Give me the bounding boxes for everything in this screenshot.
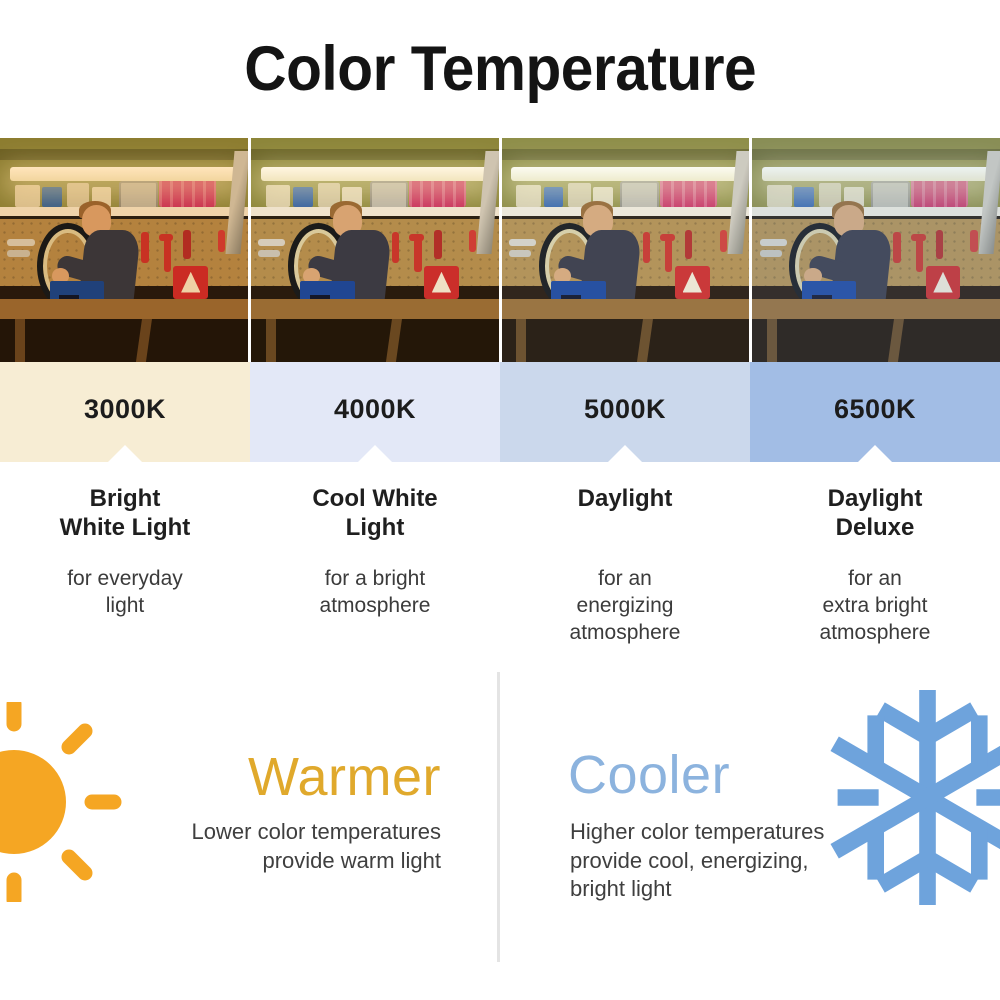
swatch-5000k[interactable]: 5000K xyxy=(500,362,750,462)
photo-panel-6500k xyxy=(752,138,1000,362)
swatch-notch xyxy=(108,445,142,462)
photo-panel-5000k xyxy=(502,138,753,362)
swatch-label: 4000K xyxy=(334,394,416,425)
warm-half: Warmer Lower color temperatures provide … xyxy=(0,660,497,1000)
description-title: Daylight Deluxe xyxy=(768,484,982,544)
description-row: Bright White Light for everyday light Co… xyxy=(0,462,1000,647)
swatch-notch xyxy=(358,445,392,462)
description-subtitle: for a bright atmosphere xyxy=(268,566,482,620)
description-subtitle: for everyday light xyxy=(18,566,232,620)
tint-overlay-4000k xyxy=(251,138,499,362)
page-title: Color Temperature xyxy=(244,33,756,105)
temperature-swatch-band: 3000K 4000K 5000K 6500K xyxy=(0,362,1000,462)
swatch-4000k[interactable]: 4000K xyxy=(250,362,500,462)
photo-panel-4000k xyxy=(251,138,502,362)
photo-panel-3000k xyxy=(0,138,251,362)
description-6500k: Daylight Deluxe for an extra bright atmo… xyxy=(750,484,1000,647)
warmer-title: Warmer xyxy=(0,746,441,808)
description-4000k: Cool White Light for a bright atmosphere xyxy=(250,484,500,647)
description-title: Daylight xyxy=(518,484,732,544)
description-subtitle: for an energizing atmosphere xyxy=(518,566,732,647)
swatch-6500k[interactable]: 6500K xyxy=(750,362,1000,462)
tint-overlay-3000k xyxy=(0,138,248,362)
swatch-3000k[interactable]: 3000K xyxy=(0,362,250,462)
description-subtitle: for an extra bright atmosphere xyxy=(768,566,982,647)
cool-half: Cooler Higher color temperatures provide… xyxy=(500,660,997,1000)
description-title: Bright White Light xyxy=(18,484,232,544)
title-area: Color Temperature xyxy=(0,0,1000,138)
swatch-label: 5000K xyxy=(584,394,666,425)
swatch-notch xyxy=(608,445,642,462)
snowflake-icon xyxy=(820,680,1000,915)
swatch-label: 3000K xyxy=(84,394,166,425)
photo-strip xyxy=(0,138,1000,362)
description-5000k: Daylight for an energizing atmosphere xyxy=(500,484,750,647)
swatch-notch xyxy=(858,445,892,462)
description-title: Cool White Light xyxy=(268,484,482,544)
swatch-label: 6500K xyxy=(834,394,916,425)
description-3000k: Bright White Light for everyday light xyxy=(0,484,250,647)
warm-cool-section: Warmer Lower color temperatures provide … xyxy=(0,660,1000,1000)
warmer-body: Lower color temperatures provide warm li… xyxy=(0,818,441,875)
